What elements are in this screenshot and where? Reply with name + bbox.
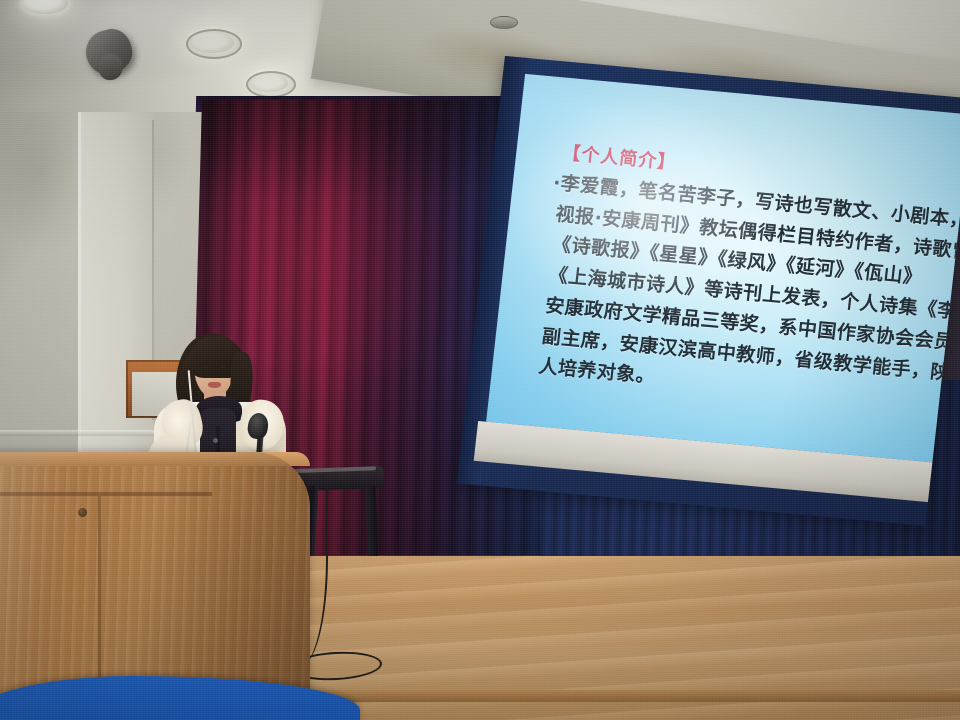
projection-screen: 【个人简介】 ·李爱霞，笔名苦李子，写诗也写散文、小剧本， 视报·安康周刊》教坛… (453, 56, 960, 566)
presenter-button-1 (213, 438, 218, 443)
screen-surface: 【个人简介】 ·李爱霞，笔名苦李子，写诗也写散文、小剧本， 视报·安康周刊》教坛… (486, 74, 960, 462)
slide-text-block: 【个人简介】 ·李爱霞，笔名苦李子，写诗也写散文、小剧本， 视报·安康周刊》教坛… (537, 138, 960, 425)
presenter-eye-right (220, 365, 226, 368)
presenter-eye-left (203, 366, 209, 369)
presenter-mouth (208, 382, 221, 388)
downlight-2-rim (186, 29, 242, 59)
smoke-detector-icon (490, 16, 518, 29)
downlight-3-rim (246, 71, 296, 98)
photograph-scene: 【个人简介】 ·李爱霞，笔名苦李子，写诗也写散文、小剧本， 视报·安康周刊》教坛… (0, 0, 960, 720)
